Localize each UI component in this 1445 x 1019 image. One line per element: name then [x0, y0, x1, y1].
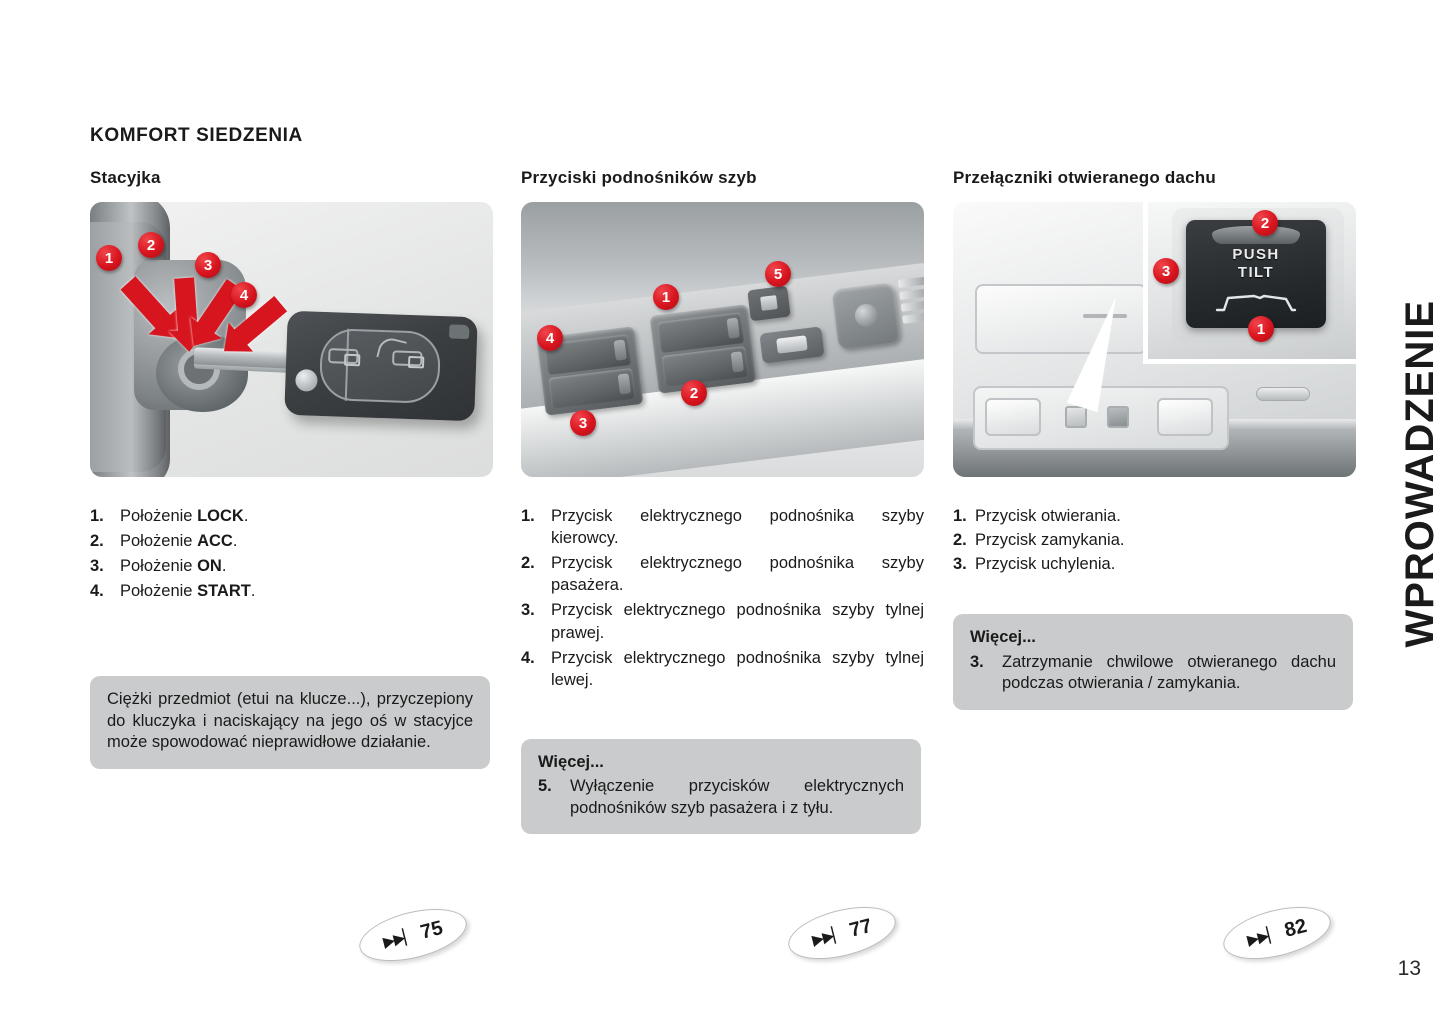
reading-lamp-right	[1157, 398, 1213, 436]
marker-5: 5	[765, 261, 791, 287]
fast-forward-icon: ▶▶▏	[811, 925, 845, 947]
lock-icon	[328, 348, 359, 364]
page-ref-number: 82	[1283, 916, 1309, 941]
list-item: 4.Położenie START.	[90, 580, 493, 602]
sunroof-switch-figure: PUSH TILT 2 3 1	[953, 202, 1356, 477]
page-number: 13	[1398, 957, 1421, 981]
list-item: 5.Wyłączenie przycisków elektrycznych po…	[538, 776, 904, 819]
ignition-positions-list: 1.Położenie LOCK. 2.Położenie ACC. 3.Poł…	[90, 505, 493, 602]
column-title-ignition: Stacyjka	[90, 168, 493, 188]
column-sunroof: Przełączniki otwieranego dachu PUSH TILT	[953, 168, 1356, 710]
list-item: 2.Przycisk elektrycznego podnośnika szyb…	[521, 552, 924, 596]
sunroof-switch-small	[1107, 406, 1129, 428]
column-title-window-switches: Przyciski podnośników szyb	[521, 168, 924, 188]
more-title: Więcej...	[538, 752, 904, 773]
page-ref-badge-75[interactable]: ▶▶▏ 75	[354, 899, 472, 970]
front-window-switch-group	[650, 304, 757, 393]
section-side-tab: WPROWADZENIE	[1398, 300, 1443, 648]
push-label: PUSH	[1186, 246, 1326, 263]
window-switch-list: 1.Przycisk elektrycznego podnośnika szyb…	[521, 505, 924, 691]
window-lockout-button	[747, 286, 790, 322]
mirror-adjust-joystick	[832, 282, 901, 349]
unlock-icon	[392, 350, 423, 366]
list-item: 3.Zatrzymanie chwilowe otwieranego dachu…	[970, 652, 1336, 695]
passenger-window-rocker	[662, 346, 749, 387]
marker-1: 1	[96, 245, 122, 271]
sunroof-switch-list: 1.Przycisk otwierania. 2.Przycisk zamyka…	[953, 505, 1356, 575]
console-button-a	[1065, 406, 1087, 428]
marker-2: 2	[138, 232, 164, 258]
ignition-switch-and-key-figure: 1 2 3 4	[90, 202, 493, 477]
sunroof-more-box: Więcej... 3.Zatrzymanie chwilowe otwiera…	[953, 614, 1353, 709]
list-item: 1.Położenie LOCK.	[90, 505, 493, 527]
window-switch-panel-figure: 1 2 3 4 5	[521, 202, 924, 477]
more-title: Więcej...	[970, 627, 1336, 648]
ignition-warning-box: Ciężki przedmiot (etui na klucze...), pr…	[90, 676, 490, 768]
page-ref-badge-82[interactable]: ▶▶▏ 82	[1218, 897, 1336, 968]
car-silhouette-icon	[1214, 290, 1298, 314]
window-switch-more-box: Więcej... 5.Wyłączenie przycisków elektr…	[521, 739, 921, 834]
rear-right-window-rocker	[549, 368, 636, 409]
fast-forward-icon: ▶▶▏	[1246, 925, 1280, 947]
list-item: 3.Położenie ON.	[90, 555, 493, 577]
tilt-label: TILT	[1186, 264, 1326, 281]
list-item: 1.Przycisk otwierania.	[953, 505, 1356, 527]
page-ref-number: 77	[848, 916, 874, 941]
sunroof-switch-inset: PUSH TILT 2 3 1	[1143, 202, 1356, 364]
key-fob-led	[295, 369, 318, 392]
marker-1: 1	[1248, 316, 1274, 342]
list-item: 4.Przycisk elektrycznego podnośnika szyb…	[521, 647, 924, 691]
key-fob-notch	[449, 324, 469, 339]
marker-2: 2	[1252, 210, 1278, 236]
list-item: 3.Przycisk elektrycznego podnośnika szyb…	[521, 599, 924, 643]
door-handle	[1256, 387, 1310, 401]
marker-1: 1	[653, 284, 679, 310]
manual-page: KOMFORT SIEDZENIA Stacyjka	[0, 0, 1445, 1019]
column-title-sunroof: Przełączniki otwieranego dachu	[953, 168, 1356, 188]
list-item: 2.Położenie ACC.	[90, 530, 493, 552]
list-item: 3.Przycisk uchylenia.	[953, 553, 1356, 575]
column-window-switches: Przyciski podnośników szyb 1 2 3 4 5 1	[521, 168, 924, 834]
column-ignition: Stacyjka 1 2 3 4	[90, 168, 493, 769]
more-list: 5.Wyłączenie przycisków elektrycznych po…	[538, 776, 904, 819]
section-title: KOMFORT SIEDZENIA	[90, 125, 303, 147]
sunroof-switch-plate: PUSH TILT	[1186, 220, 1326, 328]
list-item: 1.Przycisk elektrycznego podnośnika szyb…	[521, 505, 924, 549]
fast-forward-icon: ▶▶▏	[382, 927, 416, 949]
ignition-warning-text: Ciężki przedmiot (etui na klucze...), pr…	[107, 689, 473, 753]
page-ref-badge-77[interactable]: ▶▶▏ 77	[783, 897, 901, 968]
reading-lamp-left	[985, 398, 1041, 436]
key-fob	[284, 311, 478, 422]
list-item: 2.Przycisk zamykania.	[953, 529, 1356, 551]
page-ref-number: 75	[419, 918, 445, 943]
marker-4: 4	[231, 282, 257, 308]
more-list: 3.Zatrzymanie chwilowe otwieranego dachu…	[970, 652, 1336, 695]
marker-3: 3	[195, 252, 221, 278]
marker-4: 4	[537, 325, 563, 351]
marker-3: 3	[1153, 258, 1179, 284]
marker-2: 2	[681, 380, 707, 406]
marker-3: 3	[570, 410, 596, 436]
